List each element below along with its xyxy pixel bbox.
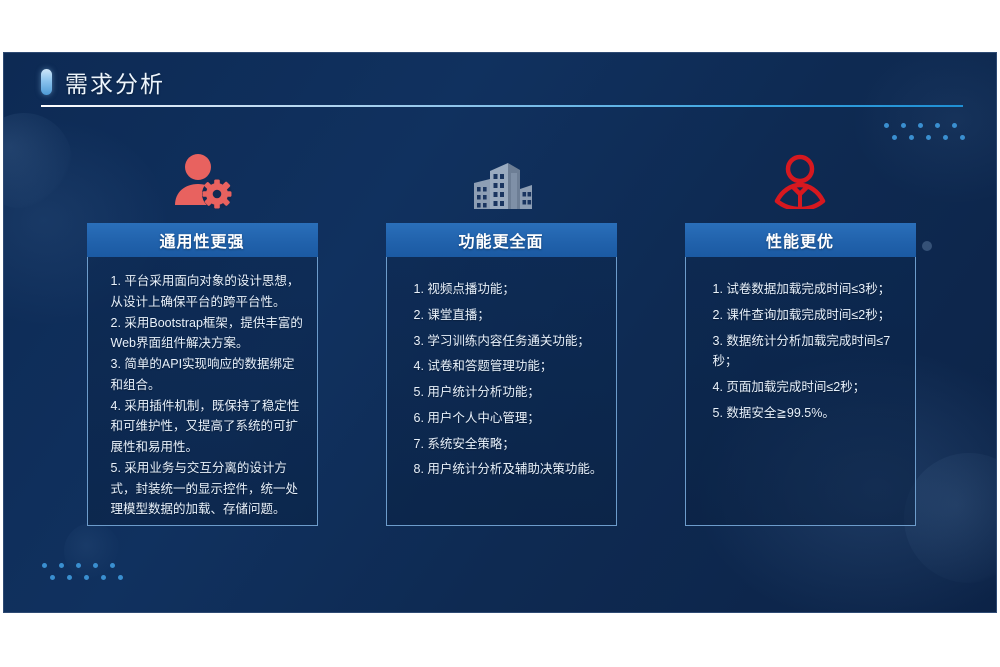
dot [935, 123, 940, 128]
list-item: 3. 简单的API实现响应的数据绑定和组合。 [101, 354, 304, 396]
card-body: 1. 试卷数据加载完成时间≤3秒； 2. 课件查询加载完成时间≤2秒； 3. 数… [685, 257, 916, 526]
dot [884, 123, 889, 128]
column-performance: 性能更优 1. 试卷数据加载完成时间≤3秒； 2. 课件查询加载完成时间≤2秒；… [685, 147, 916, 567]
list-item: 5. 用户统计分析功能； [400, 382, 603, 403]
dot [926, 135, 931, 140]
list-item: 2. 采用Bootstrap框架，提供丰富的Web界面组件解决方案。 [101, 313, 304, 355]
city-buildings-icon [468, 147, 534, 209]
business-person-outline-icon [769, 147, 831, 209]
dot [84, 575, 89, 580]
content-columns: 通用性更强 1. 平台采用面向对象的设计思想，从设计上确保平台的跨平台性。 2.… [4, 147, 997, 567]
list-item: 4. 页面加载完成时间≤2秒； [699, 377, 902, 398]
dot-grid-top-right [884, 123, 965, 140]
dot [67, 575, 72, 580]
slide-canvas: 需求分析 [3, 52, 997, 613]
list-item: 2. 课堂直播； [400, 305, 603, 326]
list-item: 4. 试卷和答题管理功能； [400, 356, 603, 377]
user-gear-icon [171, 147, 233, 209]
list-item: 6. 用户个人中心管理； [400, 408, 603, 429]
list-item: 5. 采用业务与交互分离的设计方式，封装统一的显示控件，统一处理模型数据的加载、… [101, 458, 304, 520]
page-title: 需求分析 [41, 65, 165, 99]
list-item: 7. 系统安全策略； [400, 434, 603, 455]
dot [918, 123, 923, 128]
dot [118, 575, 123, 580]
card-header: 功能更全面 [386, 223, 617, 257]
dot [960, 135, 965, 140]
dot-row [50, 575, 123, 580]
dot-row [892, 135, 965, 140]
dot-row [884, 123, 965, 128]
dot [892, 135, 897, 140]
card-performance: 性能更优 1. 试卷数据加载完成时间≤3秒； 2. 课件查询加载完成时间≤2秒；… [685, 223, 916, 526]
card-header: 通用性更强 [87, 223, 318, 257]
list-item: 3. 数据统计分析加载完成时间≤7秒； [699, 331, 902, 373]
dot [952, 123, 957, 128]
card-features: 功能更全面 1. 视频点播功能； 2. 课堂直播； 3. 学习训练内容任务通关功… [386, 223, 617, 526]
dot [909, 135, 914, 140]
list-item: 1. 视频点播功能； [400, 279, 603, 300]
column-features: 功能更全面 1. 视频点播功能； 2. 课堂直播； 3. 学习训练内容任务通关功… [386, 147, 617, 567]
page-title-text: 需求分析 [65, 65, 165, 99]
card-header: 性能更优 [685, 223, 916, 257]
list-item: 4. 采用插件机制，既保持了稳定性和可维护性，又提高了系统的可扩展性和易用性。 [101, 396, 304, 458]
slide-header: 需求分析 [4, 53, 997, 115]
dot [901, 123, 906, 128]
list-item: 5. 数据安全≧99.5%。 [699, 403, 902, 424]
dot [50, 575, 55, 580]
list-item: 1. 试卷数据加载完成时间≤3秒； [699, 279, 902, 300]
dot [943, 135, 948, 140]
card-title: 功能更全面 [458, 228, 543, 252]
card-body: 1. 平台采用面向对象的设计思想，从设计上确保平台的跨平台性。 2. 采用Boo… [87, 257, 318, 526]
title-marker-icon [41, 69, 52, 95]
list-item: 1. 平台采用面向对象的设计思想，从设计上确保平台的跨平台性。 [101, 271, 304, 313]
header-divider [41, 105, 963, 107]
dot [101, 575, 106, 580]
card-generality: 通用性更强 1. 平台采用面向对象的设计思想，从设计上确保平台的跨平台性。 2.… [87, 223, 318, 526]
card-body: 1. 视频点播功能； 2. 课堂直播； 3. 学习训练内容任务通关功能； 4. … [386, 257, 617, 526]
card-title: 通用性更强 [159, 228, 244, 252]
column-generality: 通用性更强 1. 平台采用面向对象的设计思想，从设计上确保平台的跨平台性。 2.… [87, 147, 318, 567]
list-item: 2. 课件查询加载完成时间≤2秒； [699, 305, 902, 326]
list-item: 8. 用户统计分析及辅助决策功能。 [400, 459, 603, 480]
list-item: 3. 学习训练内容任务通关功能； [400, 331, 603, 352]
card-title: 性能更优 [766, 228, 834, 252]
